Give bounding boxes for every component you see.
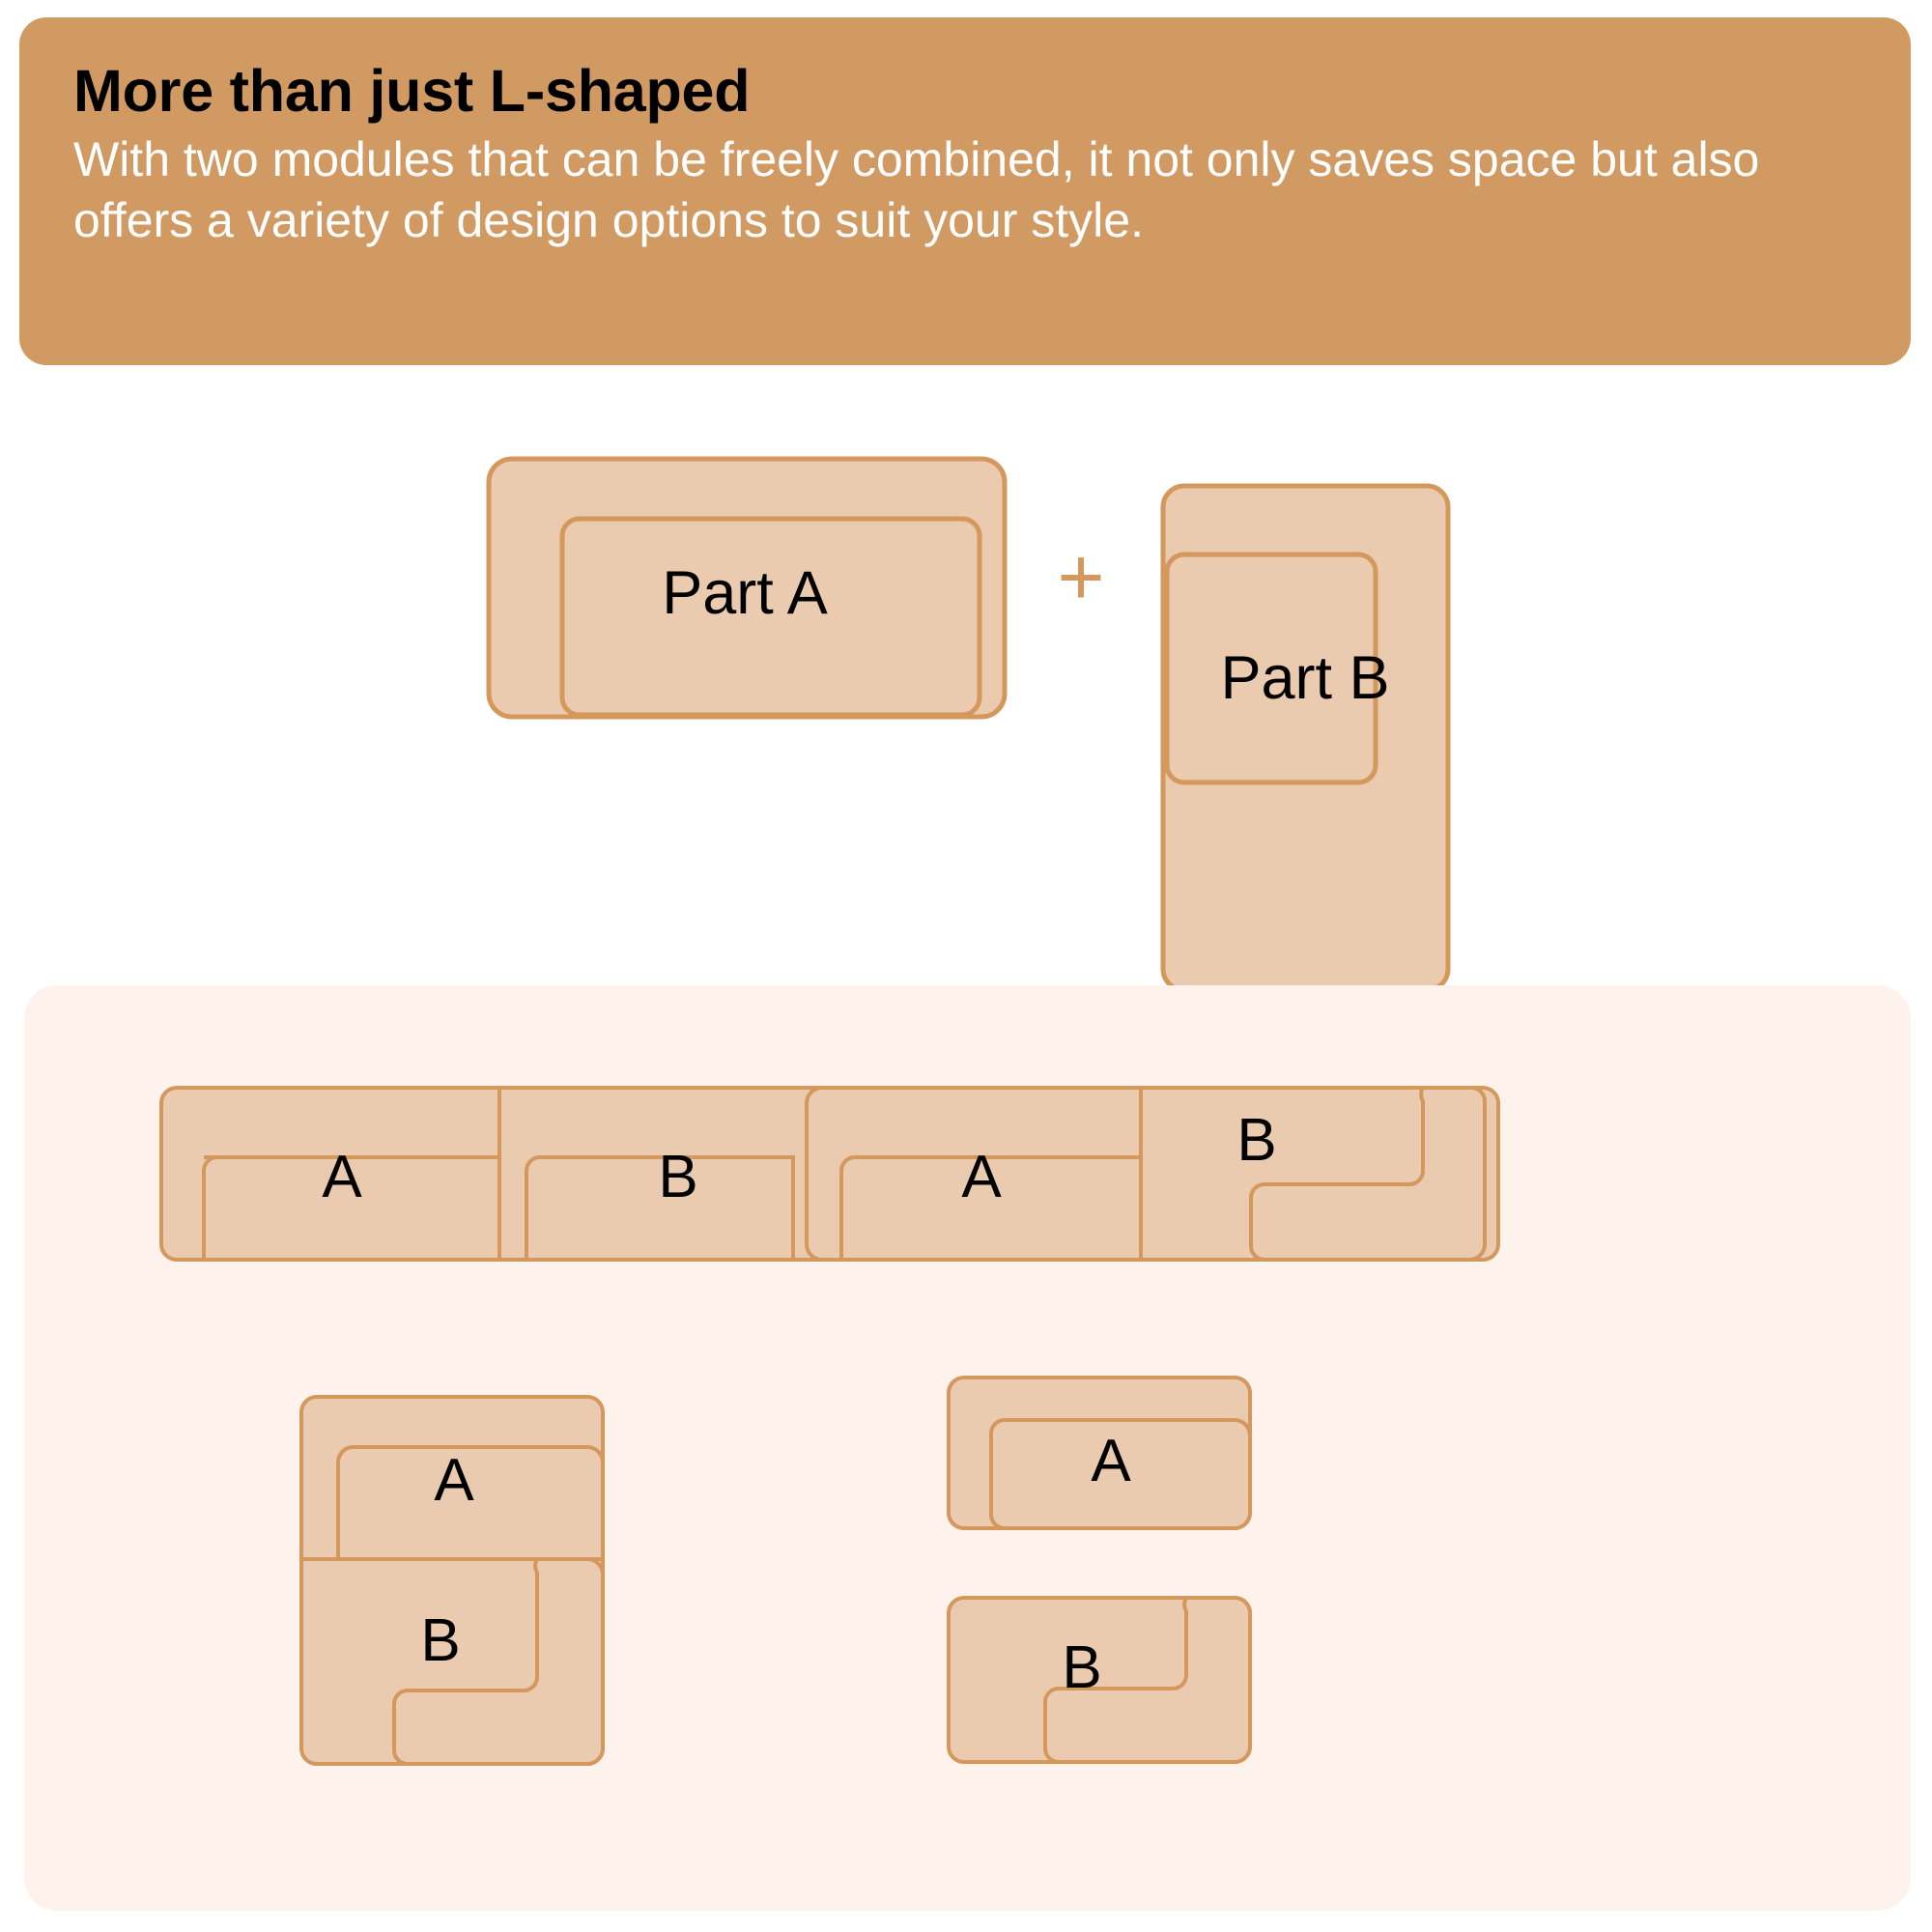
header-banner: More than just L-shaped With two modules… bbox=[19, 17, 1911, 365]
page-root: More than just L-shaped With two modules… bbox=[0, 0, 1932, 1932]
config1-module-a-seat bbox=[204, 1157, 507, 1260]
config3-module-a-seat bbox=[338, 1447, 603, 1559]
config1-module-b-seat bbox=[526, 1157, 793, 1260]
page-title: More than just L-shaped bbox=[73, 58, 1857, 124]
config4-module-a-seat bbox=[991, 1420, 1250, 1528]
part-b-seat-shape bbox=[1167, 554, 1376, 782]
part-a-seat-shape bbox=[562, 519, 980, 715]
config-side-by-side-right[interactable]: A B bbox=[805, 1082, 1520, 1265]
plus-icon: + bbox=[1041, 537, 1121, 616]
config-stacked-left[interactable]: A B bbox=[299, 1391, 609, 1777]
config-separated-right[interactable]: A B bbox=[947, 1372, 1256, 1777]
part-b-module[interactable]: Part B bbox=[1171, 442, 1451, 969]
page-subtitle: With two modules that can be freely comb… bbox=[73, 129, 1822, 251]
config-side-by-side-left[interactable]: A B bbox=[159, 1082, 874, 1265]
parts-row: Part A + Part B bbox=[0, 425, 1932, 966]
config2-module-a-seat bbox=[841, 1157, 1141, 1260]
configurations-panel: A B A B bbox=[24, 985, 1911, 1911]
part-a-module[interactable]: Part A bbox=[489, 449, 1001, 729]
